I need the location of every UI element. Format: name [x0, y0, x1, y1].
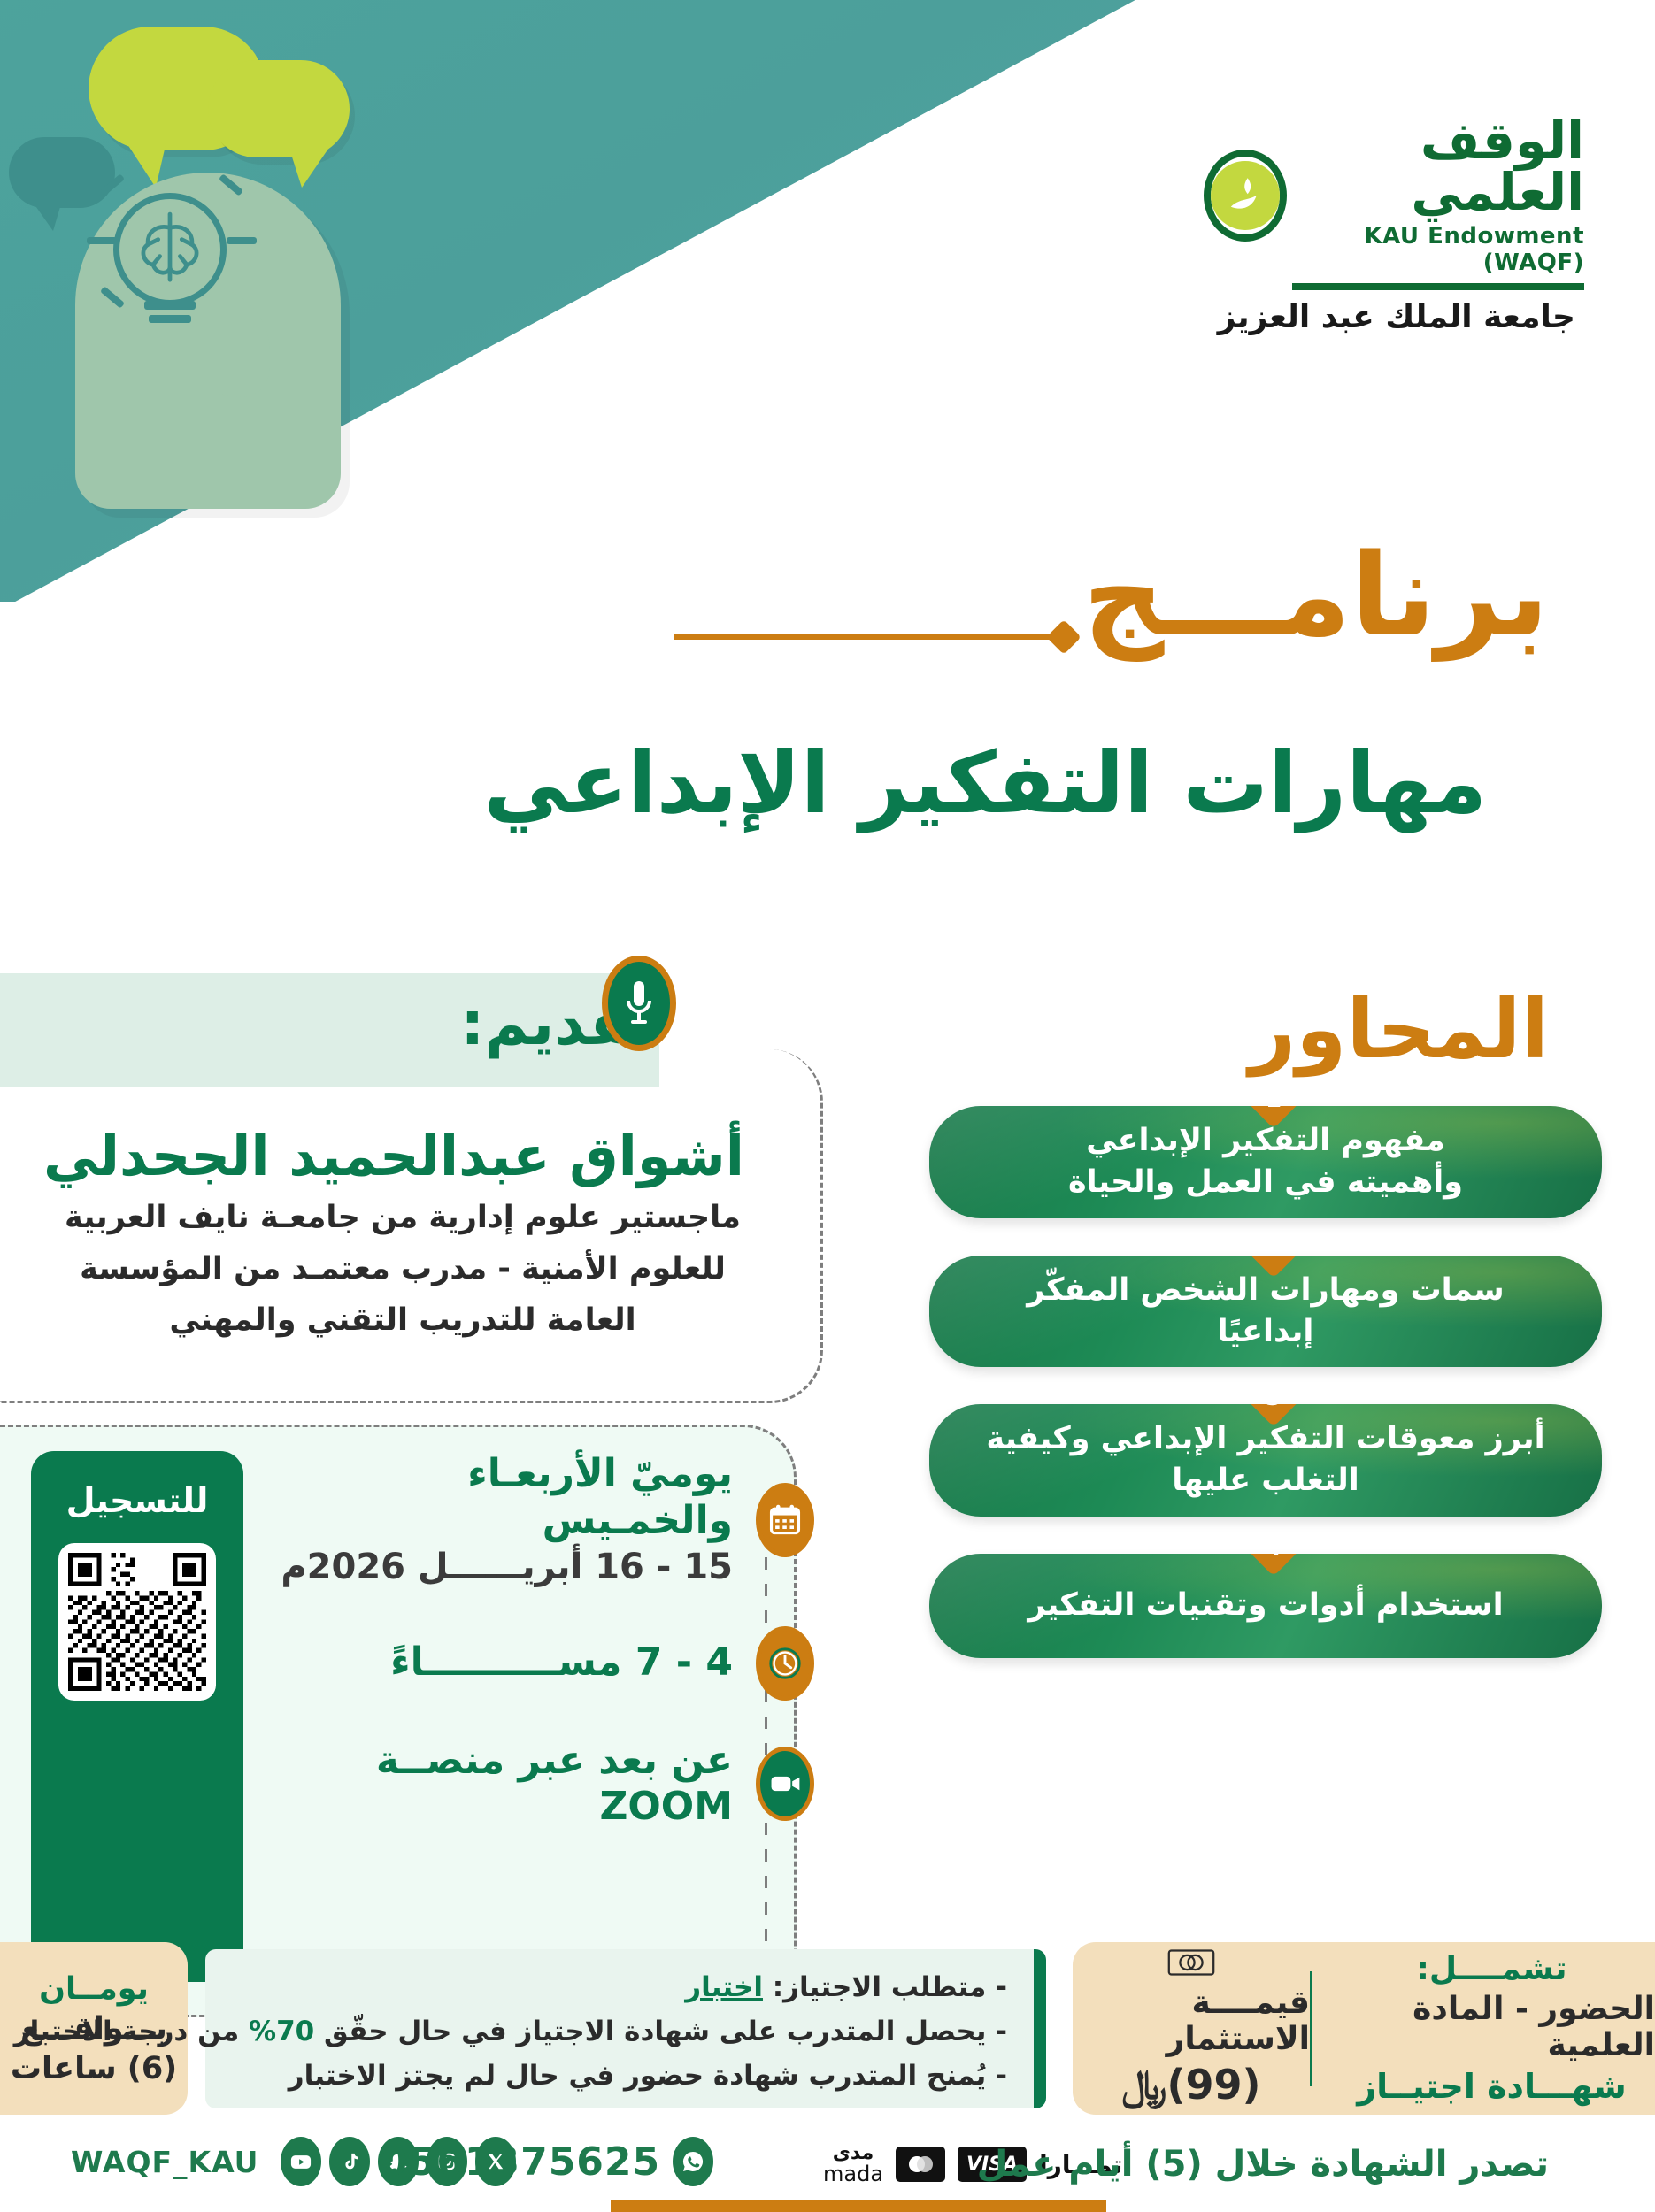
topic-pill: 2سمات ومهارات الشخص المفكّر إبداعيًا	[929, 1256, 1602, 1368]
whatsapp-icon[interactable]	[673, 2137, 713, 2186]
topic-number: 3	[1266, 1404, 1282, 1411]
title-rule-group	[558, 619, 1089, 655]
info-bar: يومــان بـــواقـــع (6) ساعات - متطلب ال…	[0, 1942, 1655, 2119]
youtube-icon[interactable]	[281, 2137, 321, 2186]
topic-label: مفهوم التفكير الإبداعيوأهميته في العمل و…	[1019, 1106, 1513, 1218]
duration-line-3: (6) ساعات	[11, 2051, 177, 2086]
exam-highlight: اختبار	[685, 1971, 763, 2003]
social-handle: WAQF_KAU	[71, 2145, 258, 2179]
mada-arabic: مدى	[833, 2144, 874, 2163]
microphone-icon	[602, 956, 676, 1051]
presenter-bio-line: ماجستير علوم إدارية من جامعـة نايف العرب…	[53, 1193, 752, 1244]
requirements-block: - متطلب الاجتياز: اختبار - يحصل المتدرب …	[205, 1949, 1046, 2108]
ray-icon	[227, 237, 257, 244]
requirement-note: - يحصل المتدرب على شهادة الاجتياز في حال…	[227, 2009, 1007, 2054]
phone-number: 0561375625	[381, 2139, 660, 2185]
mada-english: mada	[823, 2163, 883, 2185]
includes-label: تشمــــل:	[1416, 1951, 1566, 1987]
requirement-note: - يُمنح المتدرب شهادة حضور في حال لم يجت…	[227, 2054, 1007, 2098]
mastercard-logo	[896, 2147, 945, 2182]
topic-label: سمات ومهارات الشخص المفكّر إبداعيًا	[929, 1256, 1602, 1368]
topic-pill: 4استخدام أدوات وتقنيات التفكير	[929, 1554, 1602, 1658]
waqf-seal-icon	[1204, 150, 1287, 242]
lightbulb-base	[144, 301, 196, 310]
price-divider	[1310, 1971, 1312, 2086]
topic-pill: 3أبرز معوقات التفكير الإبداعي وكيفية الت…	[929, 1404, 1602, 1517]
poster-root: الوقف العلمي KAU Endowment (WAQF) جامعة …	[0, 0, 1655, 2212]
lightbulb-brain-icon	[113, 193, 227, 306]
banknote-icon	[1167, 1947, 1215, 1978]
topics-list: 1مفهوم التفكير الإبداعيوأهميته في العمل …	[876, 1106, 1655, 1695]
requirement-note: - متطلب الاجتياز: اختبار	[227, 1965, 1007, 2009]
presenter-bio-line: للعلوم الأمنية - مدرب معتمـد من المؤسسة	[53, 1244, 752, 1295]
calendar-icon	[756, 1483, 814, 1557]
detail-row-date: يوميّ الأربعـاء والخمـيس 15 - 16 أبريـــ…	[266, 1451, 814, 1589]
footer: WAQF_KAU 0561375625 تمـــارا VISA مدى	[0, 2128, 1655, 2212]
investment-value: (99)﷼	[1122, 2061, 1261, 2110]
topic-number: 2	[1266, 1256, 1282, 1263]
whatsapp-contact[interactable]: 0561375625	[381, 2137, 713, 2186]
topic-label: أبرز معوقات التفكير الإبداعي وكيفية التغ…	[929, 1404, 1602, 1517]
video-camera-icon	[756, 1747, 814, 1821]
ray-icon	[87, 237, 117, 244]
page-title: مهارات التفكير الإبداعي	[483, 734, 1487, 832]
includes-line-2: شهـــادة اجتيــاز	[1357, 2067, 1626, 2106]
topics-heading: المحاور	[1249, 982, 1549, 1077]
title-rule	[674, 634, 1055, 640]
hero-illustration	[0, 0, 1151, 602]
mada-logo: مدى mada	[823, 2144, 883, 2185]
investment-label: قيمــــة الاستثمار	[1073, 1985, 1310, 2057]
detail-row-platform: عن بعد عبر منصــة ZOOM	[266, 1738, 814, 1832]
program-kicker: برنامـــج	[1082, 540, 1549, 653]
detail-date-primary: يوميّ الأربعـاء والخمـيس	[266, 1451, 733, 1545]
presenter-bio-line: العامة للتدريب التقني والمهني	[53, 1295, 752, 1347]
detail-row-time: 4 - 7 مســــــــــاءً	[266, 1621, 814, 1706]
detail-platform-primary: عن بعد عبر منصــة ZOOM	[266, 1738, 733, 1832]
clock-icon	[756, 1626, 814, 1701]
includes-column: تشمــــل: الحضور - المادة العلمية شهـــا…	[1312, 1942, 1655, 2115]
topic-pill: 1مفهوم التفكير الإبداعيوأهميته في العمل …	[929, 1106, 1602, 1218]
waqf-wordmark: الوقف العلمي KAU Endowment (WAQF)	[1301, 115, 1584, 276]
investment-column: قيمــــة الاستثمار (99)﷼	[1073, 1942, 1310, 2115]
register-label: للتسجيل	[66, 1481, 209, 1520]
presenter-name: أشواق عبدالحميد الجحدلي	[27, 1124, 761, 1188]
diamond-icon	[1046, 619, 1082, 655]
price-block: تشمــــل: الحضور - المادة العلمية شهـــا…	[1073, 1942, 1655, 2115]
qr-code[interactable]	[58, 1543, 216, 1701]
pass-percent: 70%	[249, 2016, 314, 2047]
university-name: جامعة الملك عبد العزيز	[1204, 299, 1584, 335]
logo-divider	[1292, 283, 1584, 290]
registration-panel[interactable]: للتسجيل	[31, 1451, 243, 1982]
detail-time-primary: 4 - 7 مســــــــــاءً	[390, 1640, 733, 1686]
logo-english-text: KAU Endowment (WAQF)	[1301, 223, 1584, 276]
topic-number: 4	[1266, 1554, 1282, 1561]
topic-number: 1	[1266, 1106, 1282, 1113]
duration-line-1: يومــان	[39, 1971, 149, 2007]
topic-label: استخدام أدوات وتقنيات التفكير	[978, 1571, 1552, 1640]
footer-accent-bar	[611, 2200, 1106, 2212]
logo-arabic-text: الوقف العلمي	[1301, 115, 1584, 218]
tiktok-icon[interactable]	[329, 2137, 370, 2186]
certificate-note: تصدر الشهادة خلال (5) أيام عمل	[977, 2144, 1549, 2185]
kau-waqf-logo: الوقف العلمي KAU Endowment (WAQF) جامعة …	[1204, 115, 1584, 335]
lightbulb-base	[149, 315, 191, 323]
detail-date-secondary: 15 - 16 أبريــــــل 2026م	[266, 1545, 733, 1589]
presenter-bio: ماجستير علوم إدارية من جامعـة نايف العرب…	[53, 1193, 752, 1346]
speech-bubble-icon	[9, 137, 115, 208]
speech-bubble-icon	[208, 60, 350, 157]
includes-line-1: الحضور - المادة العلمية	[1328, 1991, 1655, 2063]
event-details: يوميّ الأربعـاء والخمـيس 15 - 16 أبريـــ…	[266, 1451, 814, 1863]
